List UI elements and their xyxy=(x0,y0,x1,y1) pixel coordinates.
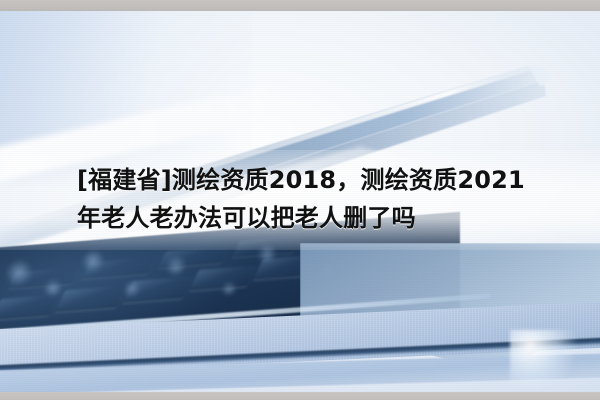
keyboard-key xyxy=(189,265,257,290)
corner-gloss-highlight xyxy=(510,330,582,388)
keyboard-key xyxy=(55,285,127,312)
bottom-letterbox-bar xyxy=(0,392,600,400)
keyboard-key xyxy=(123,276,193,302)
caption-text: [福建省]测绘资质2018，测绘资质2021年老人老办法可以把老人删了吗 xyxy=(77,161,547,237)
top-letterbox-bar xyxy=(0,0,600,11)
thumbnail-image: [福建省]测绘资质2018，测绘资质2021年老人老办法可以把老人删了吗 xyxy=(0,0,600,400)
keyboard-key xyxy=(0,295,59,320)
